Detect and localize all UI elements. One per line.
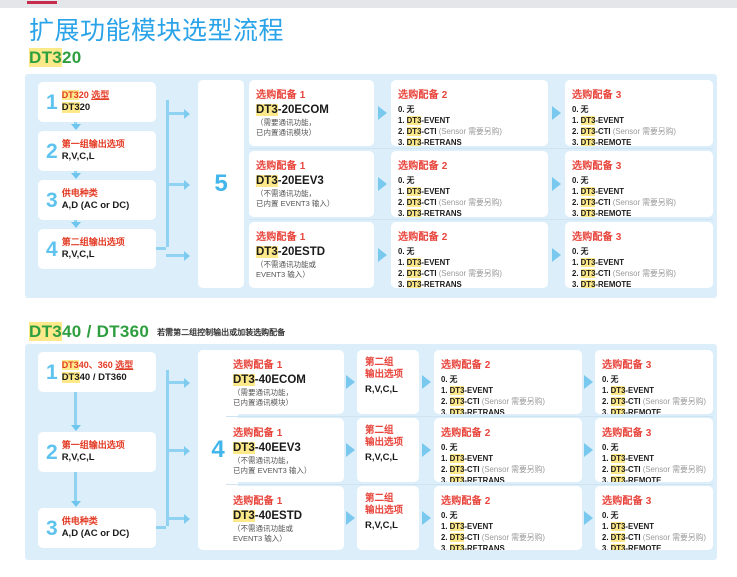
option1-note: （不需通讯功能或EVENT3 输入）: [233, 524, 337, 544]
option3-items: 0. 无1. DT3-EVENT2. DT3-CTI (Sensor 需要另购)…: [602, 510, 706, 550]
option3-item: 3. DT3-REMOTE: [572, 279, 706, 288]
section-heading-suffix: 40 / DT360: [62, 322, 149, 341]
step-value: R,V,C,L: [62, 452, 125, 464]
step-value: R,V,C,L: [62, 151, 125, 163]
option2-item: 3. DT3-RETRANS: [441, 475, 575, 482]
option2-heading: 选购配备 2: [398, 228, 541, 243]
option3-card-row3: 选购配备 30. 无1. DT3-EVENT2. DT3-CTI (Sensor…: [565, 222, 713, 288]
option1-model: DT3-20ESTD: [256, 246, 367, 258]
option2-item: 0. 无: [398, 175, 541, 186]
option1-note: （需要通讯功能，已内置通讯模块）: [233, 388, 337, 408]
step-card-1: 1DT340、360 选型DT340 / DT360: [38, 352, 156, 392]
option3-heading: 选购配备 3: [572, 86, 706, 101]
option2-items: 0. 无1. DT3-EVENT2. DT3-CTI (Sensor 需要另购)…: [398, 104, 541, 146]
row-arrow: [584, 511, 593, 525]
junction-bracket-stub: [156, 247, 166, 250]
step-number: 2: [46, 141, 58, 162]
step-text: DT340、360 选型DT340 / DT360: [62, 360, 134, 384]
step-card-1: 1DT320 选型DT320: [38, 82, 156, 122]
option2-item: 3. DT3-RETRANS: [441, 407, 575, 414]
junction-branch-line: [166, 449, 184, 452]
option1-card-row2: 选购配备 1DT3-20EEV3（不需通讯功能，已内置 EVENT3 输入）: [249, 151, 374, 217]
option2-item: 1. DT3-EVENT: [398, 257, 541, 268]
option3-card-row2: 选购配备 30. 无1. DT3-EVENT2. DT3-CTI (Sensor…: [565, 151, 713, 217]
row-arrow: [584, 375, 593, 389]
row-divider: [249, 148, 713, 149]
junction-number: 5: [214, 170, 227, 198]
junction-bracket-vertical: [166, 370, 169, 526]
junction-bracket-stub: [156, 526, 166, 529]
step-card-2: 2第一组输出选项R,V,C,L: [38, 432, 156, 472]
row-arrow: [422, 375, 431, 389]
option1-note: （需要通讯功能，已内置通讯模块）: [256, 118, 367, 138]
option3-item: 3. DT3-REMOTE: [602, 475, 706, 482]
step-text: 供电种类A,D (AC or DC): [62, 188, 130, 212]
option3-item: 2. DT3-CTI (Sensor 需要另购): [602, 464, 706, 475]
second-group-heading: 第二组输出选项: [365, 425, 411, 449]
step-value: DT340 / DT360: [62, 372, 134, 384]
step-connector-arrow: [71, 124, 81, 130]
option1-card-row1: 选购配备 1DT3-20ECOM（需要通讯功能，已内置通讯模块）: [249, 80, 374, 146]
option3-item: 0. 无: [602, 442, 706, 453]
step-connector-line: [74, 472, 77, 502]
option3-item: 0. 无: [572, 175, 706, 186]
option3-items: 0. 无1. DT3-EVENT2. DT3-CTI (Sensor 需要另购)…: [602, 442, 706, 482]
option2-item: 2. DT3-CTI (Sensor 需要另购): [441, 396, 575, 407]
option2-item: 1. DT3-EVENT: [441, 453, 575, 464]
option1-card-row1: 选购配备 1DT3-40ECOM（需要通讯功能，已内置通讯模块）: [226, 350, 344, 414]
option2-item: 0. 无: [441, 374, 575, 385]
second-output-group-card-row2: 第二组输出选项R,V,C,L: [357, 418, 419, 482]
option2-item: 1. DT3-EVENT: [441, 521, 575, 532]
step-title: DT340、360 选型: [62, 360, 134, 371]
junction-branch-arrow: [184, 109, 190, 119]
option2-item: 1. DT3-EVENT: [398, 115, 541, 126]
step-title: 第二组输出选项: [62, 237, 125, 248]
option3-items: 0. 无1. DT3-EVENT2. DT3-CTI (Sensor 需要另购)…: [572, 246, 706, 288]
option1-heading: 选购配备 1: [256, 228, 367, 243]
second-output-group-card-row3: 第二组输出选项R,V,C,L: [357, 486, 419, 550]
option3-item: 2. DT3-CTI (Sensor 需要另购): [572, 197, 706, 208]
option3-item: 3. DT3-REMOTE: [602, 407, 706, 414]
option3-items: 0. 无1. DT3-EVENT2. DT3-CTI (Sensor 需要另购)…: [602, 374, 706, 414]
junction-card: 5: [198, 80, 244, 288]
option3-heading: 选购配备 3: [602, 356, 706, 371]
step-connector-arrow: [71, 501, 81, 507]
option2-heading: 选购配备 2: [441, 356, 575, 371]
second-group-value: R,V,C,L: [365, 520, 411, 531]
option3-item: 2. DT3-CTI (Sensor 需要另购): [572, 268, 706, 279]
second-group-heading: 第二组输出选项: [365, 357, 411, 381]
option1-note: （不需通讯功能，已内置 EVENT3 输入）: [256, 189, 367, 209]
option3-item: 0. 无: [602, 374, 706, 385]
option2-item: 3. DT3-RETRANS: [398, 279, 541, 288]
option3-heading: 选购配备 3: [602, 492, 706, 507]
junction-number: 4: [211, 436, 224, 464]
step-connector-arrow: [71, 222, 81, 228]
step-text: 供电种类A,D (AC or DC): [62, 516, 130, 540]
step-value: A,D (AC or DC): [62, 528, 130, 540]
option3-card-row3: 选购配备 30. 无1. DT3-EVENT2. DT3-CTI (Sensor…: [595, 486, 713, 550]
step-card-2: 2第一组输出选项R,V,C,L: [38, 131, 156, 171]
row-arrow: [346, 375, 355, 389]
option3-item: 3. DT3-REMOTE: [602, 543, 706, 550]
option2-item: 2. DT3-CTI (Sensor 需要另购): [441, 532, 575, 543]
section-heading-dt340-360: DT340 / DT360若需第二组控制输出或加装选购配备: [29, 322, 285, 342]
option3-item: 1. DT3-EVENT: [602, 521, 706, 532]
option2-items: 0. 无1. DT3-EVENT2. DT3-CTI (Sensor 需要另购)…: [398, 175, 541, 217]
junction-branch-line: [166, 381, 184, 384]
junction-branch-line: [166, 517, 184, 520]
option2-item: 0. 无: [398, 104, 541, 115]
second-group-value: R,V,C,L: [365, 384, 411, 395]
option2-item: 2. DT3-CTI (Sensor 需要另购): [398, 197, 541, 208]
step-connector-line: [74, 392, 77, 426]
option2-items: 0. 无1. DT3-EVENT2. DT3-CTI (Sensor 需要另购)…: [398, 246, 541, 288]
option2-card-row3: 选购配备 20. 无1. DT3-EVENT2. DT3-CTI (Sensor…: [434, 486, 582, 550]
option2-items: 0. 无1. DT3-EVENT2. DT3-CTI (Sensor 需要另购)…: [441, 442, 575, 482]
option2-card-row1: 选购配备 20. 无1. DT3-EVENT2. DT3-CTI (Sensor…: [434, 350, 582, 414]
option2-item: 2. DT3-CTI (Sensor 需要另购): [398, 126, 541, 137]
step-title: 供电种类: [62, 188, 130, 199]
option1-model: DT3-20EEV3: [256, 175, 367, 187]
junction-branch-arrow: [184, 180, 190, 190]
section-heading-prefix: DT3: [29, 48, 62, 67]
option3-heading: 选购配备 3: [602, 424, 706, 439]
step-title: DT320 选型: [62, 90, 110, 101]
option2-item: 2. DT3-CTI (Sensor 需要另购): [398, 268, 541, 279]
option3-item: 1. DT3-EVENT: [602, 453, 706, 464]
option3-item: 0. 无: [572, 246, 706, 257]
option2-card-row3: 选购配备 20. 无1. DT3-EVENT2. DT3-CTI (Sensor…: [391, 222, 548, 288]
step-number: 4: [46, 239, 58, 260]
option3-item: 1. DT3-EVENT: [572, 115, 706, 126]
option2-card-row2: 选购配备 20. 无1. DT3-EVENT2. DT3-CTI (Sensor…: [434, 418, 582, 482]
option1-card-row3: 选购配备 1DT3-40ESTD（不需通讯功能或EVENT3 输入）: [226, 486, 344, 550]
option3-card-row1: 选购配备 30. 无1. DT3-EVENT2. DT3-CTI (Sensor…: [595, 350, 713, 414]
junction-branch-arrow: [184, 378, 190, 388]
section-heading-prefix: DT3: [29, 322, 62, 341]
step-connector-arrow: [71, 173, 81, 179]
row-divider: [226, 416, 713, 417]
section-subtitle: 若需第二组控制输出或加装选购配备: [157, 328, 285, 337]
step-value: A,D (AC or DC): [62, 200, 130, 212]
row-arrow: [584, 443, 593, 457]
row-divider: [226, 484, 713, 485]
step-number: 3: [46, 190, 58, 211]
option2-items: 0. 无1. DT3-EVENT2. DT3-CTI (Sensor 需要另购)…: [441, 510, 575, 550]
option2-card-row2: 选购配备 20. 无1. DT3-EVENT2. DT3-CTI (Sensor…: [391, 151, 548, 217]
option2-items: 0. 无1. DT3-EVENT2. DT3-CTI (Sensor 需要另购)…: [441, 374, 575, 414]
junction-branch-arrow: [184, 251, 190, 261]
step-number: 3: [46, 518, 58, 539]
option3-items: 0. 无1. DT3-EVENT2. DT3-CTI (Sensor 需要另购)…: [572, 104, 706, 146]
step-number: 2: [46, 442, 58, 463]
section-heading-dt320: DT320: [29, 48, 82, 68]
step-card-3: 3供电种类A,D (AC or DC): [38, 180, 156, 220]
row-arrow: [422, 443, 431, 457]
section-heading-suffix: 20: [62, 48, 82, 67]
option3-heading: 选购配备 3: [572, 157, 706, 172]
option2-heading: 选购配备 2: [398, 86, 541, 101]
option3-item: 0. 无: [572, 104, 706, 115]
option1-heading: 选购配备 1: [233, 492, 337, 507]
step-number: 1: [46, 362, 58, 383]
option3-items: 0. 无1. DT3-EVENT2. DT3-CTI (Sensor 需要另购)…: [572, 175, 706, 217]
option2-item: 0. 无: [398, 246, 541, 257]
option3-card-row2: 选购配备 30. 无1. DT3-EVENT2. DT3-CTI (Sensor…: [595, 418, 713, 482]
step-title: 第一组输出选项: [62, 139, 125, 150]
row-arrow: [346, 511, 355, 525]
option2-item: 2. DT3-CTI (Sensor 需要另购): [441, 464, 575, 475]
option3-card-row1: 选购配备 30. 无1. DT3-EVENT2. DT3-CTI (Sensor…: [565, 80, 713, 146]
step-title: 第一组输出选项: [62, 440, 125, 451]
junction-bracket-vertical: [166, 100, 169, 247]
option1-model: DT3-20ECOM: [256, 104, 367, 116]
option2-item: 1. DT3-EVENT: [441, 385, 575, 396]
option3-item: 1. DT3-EVENT: [572, 186, 706, 197]
step-text: 第二组输出选项R,V,C,L: [62, 237, 125, 261]
option2-card-row1: 选购配备 20. 无1. DT3-EVENT2. DT3-CTI (Sensor…: [391, 80, 548, 146]
step-title: 供电种类: [62, 516, 130, 527]
option3-item: 1. DT3-EVENT: [602, 385, 706, 396]
option2-item: 3. DT3-RETRANS: [398, 208, 541, 217]
step-text: DT320 选型DT320: [62, 90, 110, 114]
option2-item: 0. 无: [441, 442, 575, 453]
step-text: 第一组输出选项R,V,C,L: [62, 139, 125, 163]
row-arrow: [552, 106, 561, 120]
option1-card-row2: 选购配备 1DT3-40EEV3（不需通讯功能，已内置 EVENT3 输入）: [226, 418, 344, 482]
junction-branch-line: [166, 254, 184, 257]
option3-item: 2. DT3-CTI (Sensor 需要另购): [572, 126, 706, 137]
step-card-3: 3供电种类A,D (AC or DC): [38, 508, 156, 548]
option2-item: 1. DT3-EVENT: [398, 186, 541, 197]
row-arrow: [552, 177, 561, 191]
option3-item: 3. DT3-REMOTE: [572, 137, 706, 146]
junction-branch-arrow: [184, 514, 190, 524]
option3-item: 2. DT3-CTI (Sensor 需要另购): [602, 532, 706, 543]
option2-heading: 选购配备 2: [398, 157, 541, 172]
option1-note: （不需通讯功能，已内置 EVENT3 输入）: [233, 456, 337, 476]
step-card-4: 4第二组输出选项R,V,C,L: [38, 229, 156, 269]
option1-model: DT3-40ECOM: [233, 374, 337, 386]
option1-model: DT3-40EEV3: [233, 442, 337, 454]
row-arrow: [346, 443, 355, 457]
option2-item: 3. DT3-RETRANS: [441, 543, 575, 550]
junction-branch-line: [166, 112, 184, 115]
row-arrow: [422, 511, 431, 525]
row-arrow: [378, 248, 387, 262]
step-text: 第一组输出选项R,V,C,L: [62, 440, 125, 464]
page-title: 扩展功能模块选型流程: [29, 19, 284, 44]
option3-heading: 选购配备 3: [572, 228, 706, 243]
option3-item: 1. DT3-EVENT: [572, 257, 706, 268]
option1-heading: 选购配备 1: [256, 86, 367, 101]
row-divider: [249, 219, 713, 220]
junction-branch-arrow: [184, 446, 190, 456]
junction-branch-line: [166, 183, 184, 186]
option2-item: 3. DT3-RETRANS: [398, 137, 541, 146]
step-number: 1: [46, 92, 58, 113]
second-output-group-card-row1: 第二组输出选项R,V,C,L: [357, 350, 419, 414]
option2-item: 0. 无: [441, 510, 575, 521]
option2-heading: 选购配备 2: [441, 492, 575, 507]
second-group-heading: 第二组输出选项: [365, 493, 411, 517]
option1-heading: 选购配备 1: [233, 356, 337, 371]
row-arrow: [552, 248, 561, 262]
step-value: R,V,C,L: [62, 249, 125, 261]
option1-card-row3: 选购配备 1DT3-20ESTD（不需通讯功能或EVENT3 输入）: [249, 222, 374, 288]
option1-model: DT3-40ESTD: [233, 510, 337, 522]
option3-item: 2. DT3-CTI (Sensor 需要另购): [602, 396, 706, 407]
option1-heading: 选购配备 1: [256, 157, 367, 172]
option3-item: 3. DT3-REMOTE: [572, 208, 706, 217]
option1-note: （不需通讯功能或EVENT3 输入）: [256, 260, 367, 280]
step-connector-arrow: [71, 425, 81, 431]
row-arrow: [378, 106, 387, 120]
option2-heading: 选购配备 2: [441, 424, 575, 439]
step-value: DT320: [62, 102, 110, 114]
option1-heading: 选购配备 1: [233, 424, 337, 439]
option3-item: 0. 无: [602, 510, 706, 521]
red-accent-bar: [27, 1, 57, 4]
top-band: [0, 0, 737, 8]
row-arrow: [378, 177, 387, 191]
second-group-value: R,V,C,L: [365, 452, 411, 463]
